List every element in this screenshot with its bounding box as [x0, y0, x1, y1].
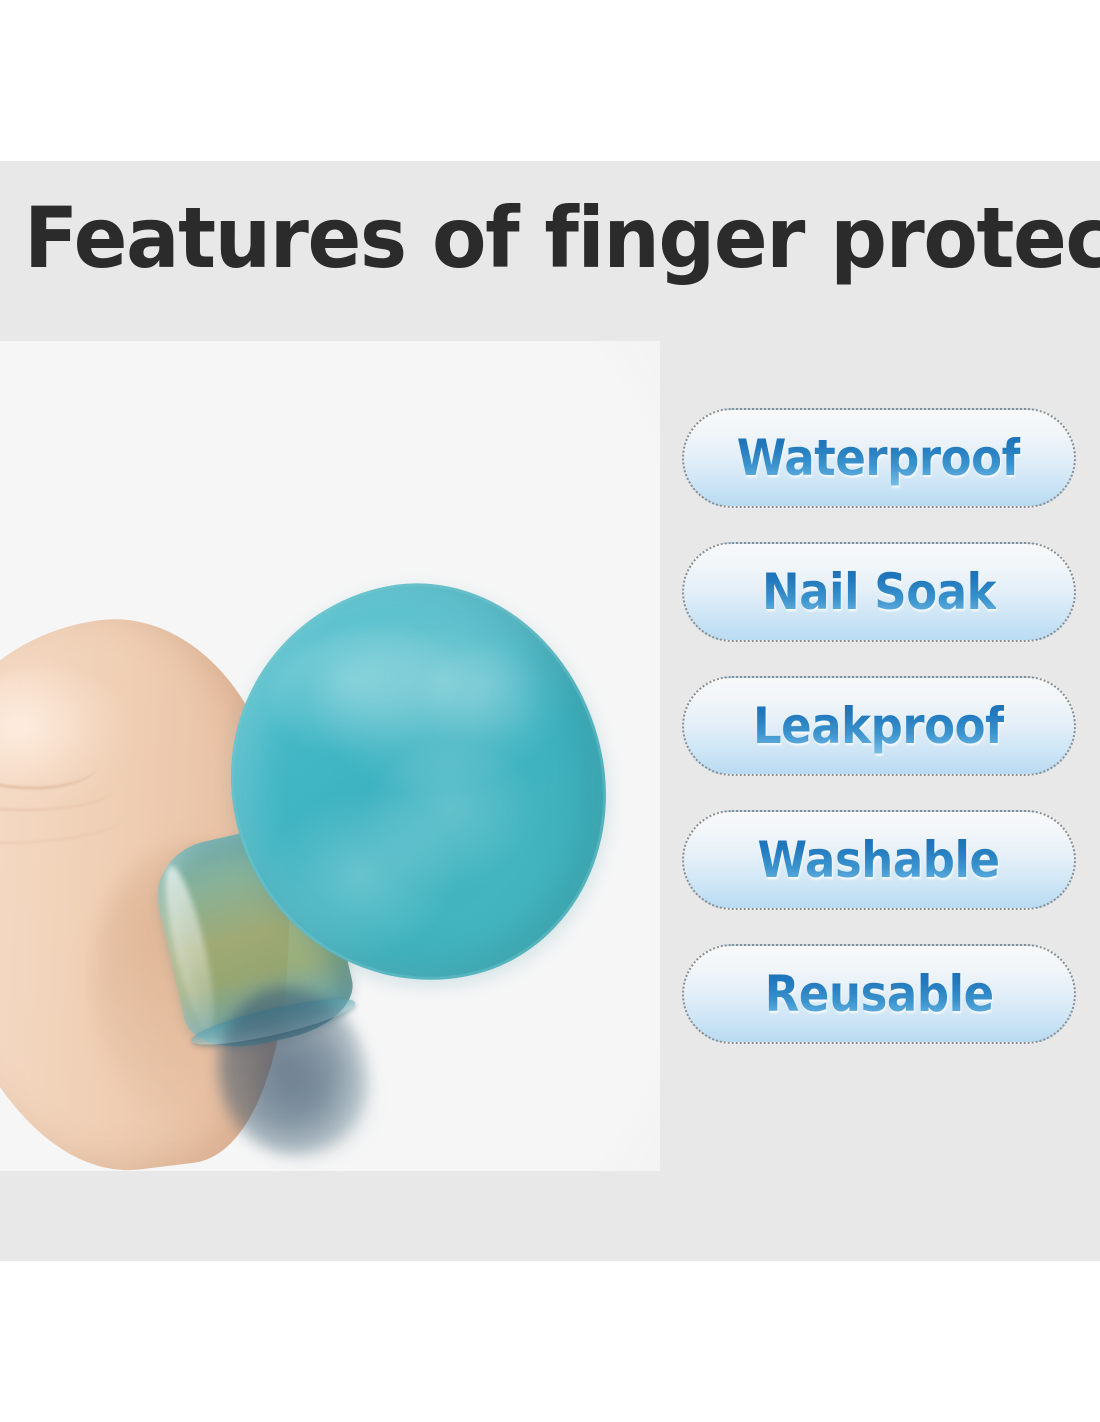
feature-label: Washable: [758, 831, 1000, 889]
feature-pill-nail-soak[interactable]: Nail Soak: [682, 542, 1076, 642]
content-area: Features of finger protector: [0, 161, 1100, 1261]
feature-list: Waterproof Nail Soak Leakproof Washable …: [682, 408, 1076, 1044]
feature-label: Leakproof: [753, 697, 1004, 755]
feature-pill-washable[interactable]: Washable: [682, 810, 1076, 910]
feature-pill-leakproof[interactable]: Leakproof: [682, 676, 1076, 776]
feature-pill-reusable[interactable]: Reusable: [682, 944, 1076, 1044]
feature-pill-waterproof[interactable]: Waterproof: [682, 408, 1076, 508]
feature-label: Waterproof: [737, 429, 1021, 487]
thumb-crease: [0, 802, 126, 846]
feature-label: Nail Soak: [762, 563, 996, 621]
feature-label: Reusable: [765, 965, 994, 1023]
product-photo: [0, 341, 660, 1171]
page-root: Features of finger protector: [0, 0, 1100, 1422]
page-title: Features of finger protector: [24, 193, 1026, 283]
